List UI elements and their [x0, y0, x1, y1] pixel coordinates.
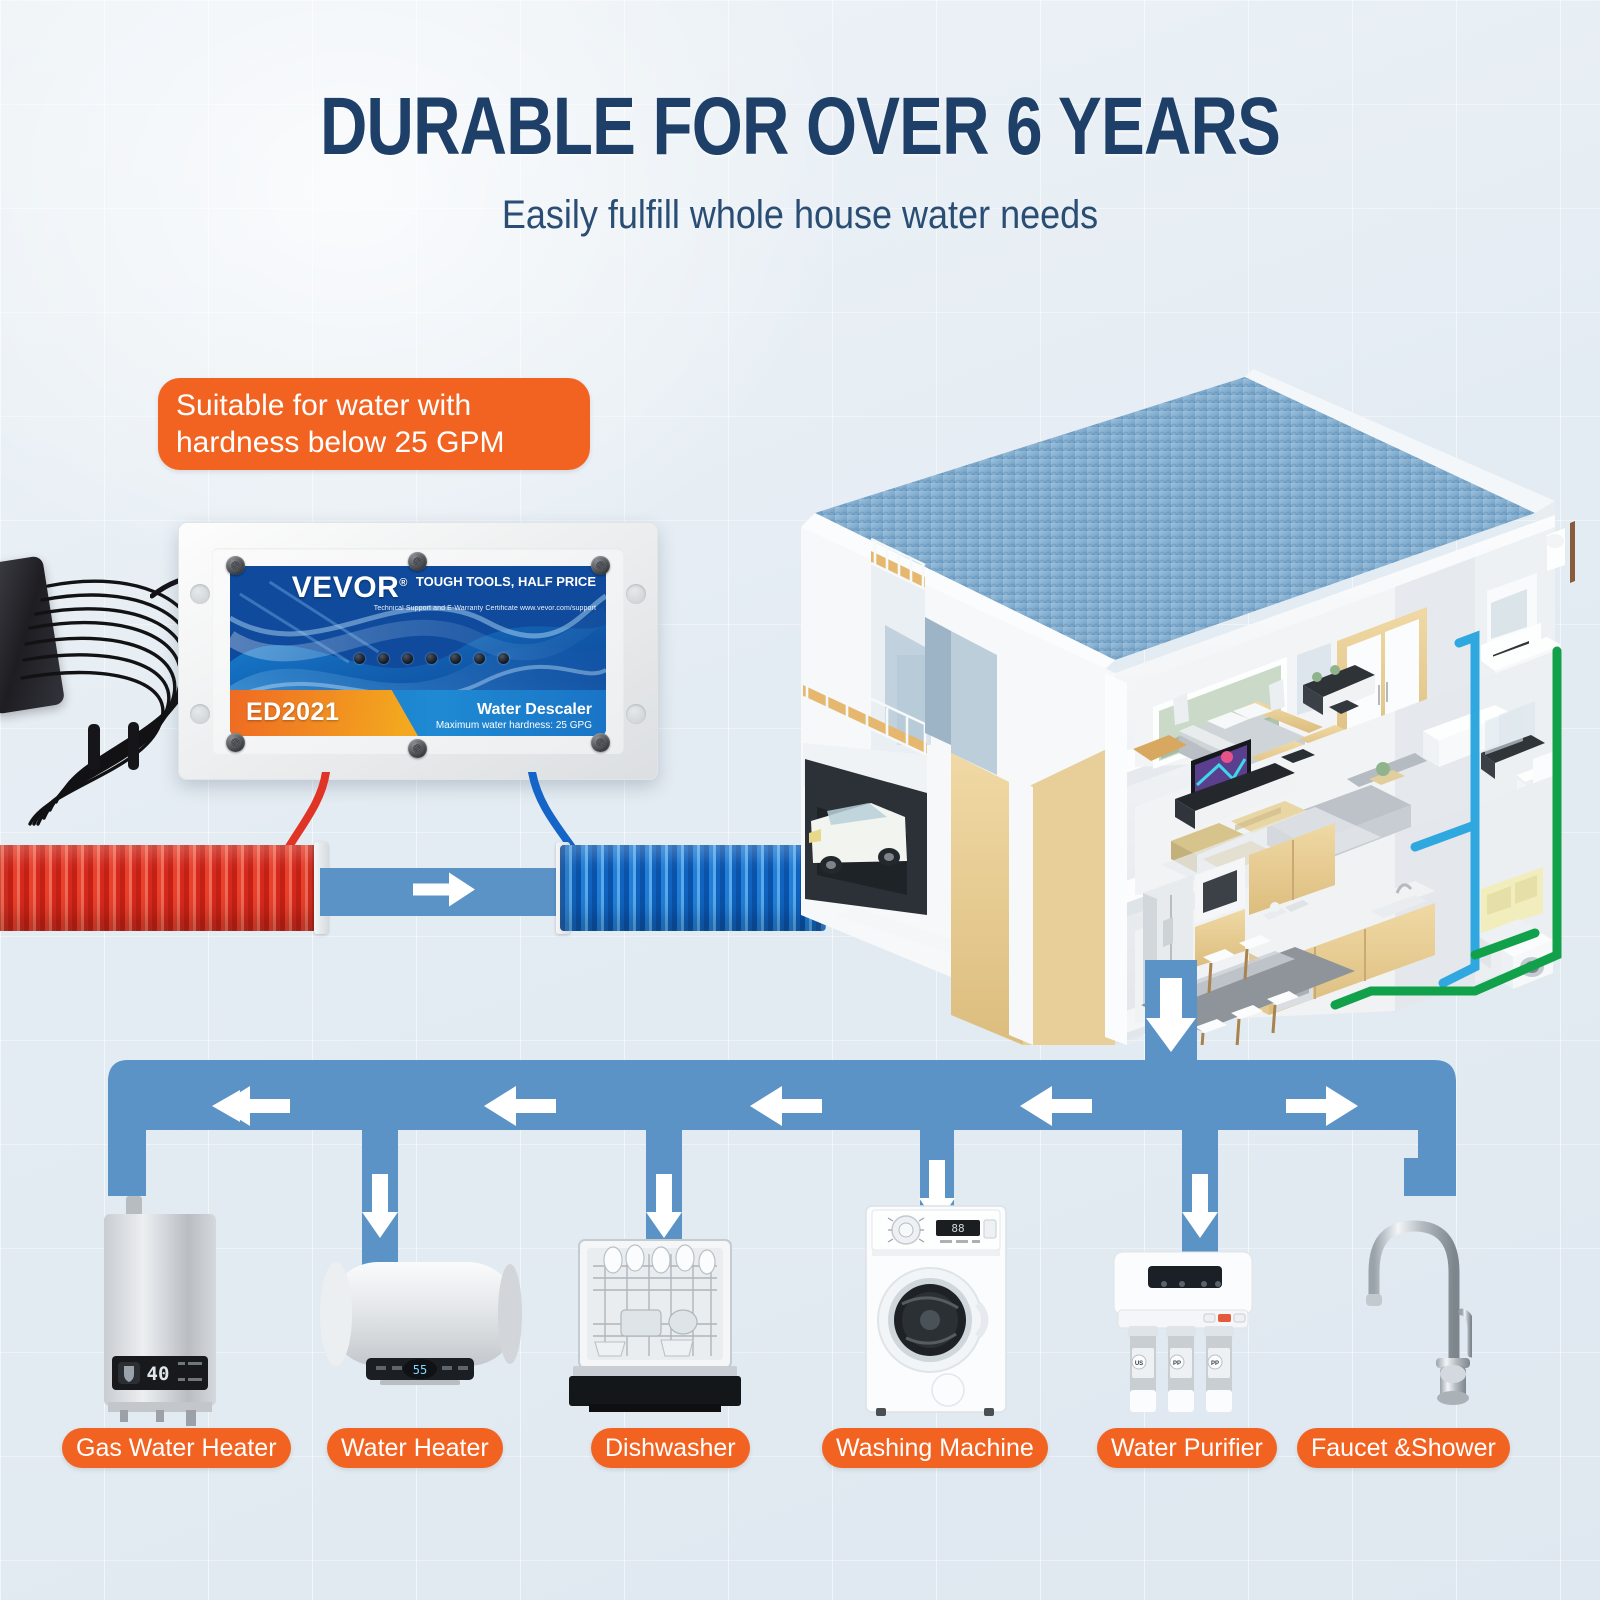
registered-mark: ® — [399, 577, 408, 589]
brand-fine-print: Technical Support and E-Warranty Certifi… — [292, 605, 596, 612]
screw-bottom-left — [226, 733, 245, 752]
led-indicator — [426, 653, 437, 664]
led-indicator — [354, 653, 365, 664]
device-label: VEVOR®TOUGH TOOLS, HALF PRICE Technical … — [230, 566, 606, 736]
label-faucet-shower: Faucet &Shower — [1297, 1428, 1510, 1468]
screw-bottom-right — [591, 733, 610, 752]
screw-top-left — [226, 556, 245, 575]
svg-text:40: 40 — [147, 1363, 170, 1385]
water-descaler-device[interactable]: VEVOR®TOUGH TOOLS, HALF PRICE Technical … — [178, 522, 658, 780]
svg-text:US: US — [1135, 1361, 1143, 1367]
red-inlet-hose — [0, 845, 322, 931]
led-indicator — [378, 653, 389, 664]
page-subtitle: Easily fulfill whole house water needs — [80, 193, 1520, 238]
model-chip: ED2021 — [230, 690, 418, 736]
appliance-water-heater: 55 — [310, 1258, 530, 1398]
brand-name: VEVOR® — [292, 571, 408, 604]
model-number: ED2021 — [246, 698, 339, 727]
led-indicator — [498, 653, 509, 664]
appliance-faucet-shower — [1352, 1208, 1472, 1418]
flow-connector-bar — [320, 868, 568, 916]
model-band: ED2021 Water Descaler Maximum water hard… — [230, 690, 606, 736]
screw-top-center — [408, 552, 427, 571]
label-gas-water-heater: Gas Water Heater — [62, 1428, 291, 1468]
appliance-washing-machine: 88 — [862, 1204, 1010, 1419]
screw-bottom-center — [408, 739, 427, 758]
mounting-hole-top-right — [626, 584, 646, 604]
product-name: Water Descaler — [436, 701, 592, 719]
label-water-heater: Water Heater — [327, 1428, 503, 1468]
appliance-water-purifier: US PP PP — [1108, 1248, 1258, 1418]
brand-tagline: TOUGH TOOLS, HALF PRICE — [416, 575, 596, 590]
led-indicator — [450, 653, 461, 664]
label-water-purifier: Water Purifier — [1097, 1428, 1277, 1468]
label-dishwasher: Dishwasher — [591, 1428, 750, 1468]
product-info: Water Descaler Maximum water hardness: 2… — [436, 701, 592, 732]
house-cutaway-illustration — [775, 355, 1575, 1045]
inlet-flow-arrow-icon — [413, 873, 475, 912]
appliance-gas-water-heater: 40 — [100, 1196, 220, 1426]
product-spec: Maximum water hardness: 25 GPG — [436, 720, 592, 732]
led-indicator — [474, 653, 485, 664]
svg-text:PP: PP — [1173, 1361, 1181, 1367]
hardness-callout-badge: Suitable for water with hardness below 2… — [158, 378, 590, 470]
svg-text:PP: PP — [1211, 1361, 1219, 1367]
svg-text:55: 55 — [413, 1363, 427, 1377]
appliance-dishwasher — [565, 1238, 745, 1418]
led-indicator-row — [354, 653, 509, 664]
page-title: DURABLE FOR OVER 6 YEARS — [160, 88, 1440, 167]
label-washing-machine: Washing Machine — [822, 1428, 1048, 1468]
brand-block: VEVOR®TOUGH TOOLS, HALF PRICE Technical … — [292, 573, 596, 612]
screw-top-right — [591, 556, 610, 575]
svg-text:88: 88 — [951, 1222, 964, 1235]
header: DURABLE FOR OVER 6 YEARS Easily fulfill … — [0, 88, 1600, 238]
mounting-hole-bottom-left — [190, 704, 210, 724]
led-indicator — [402, 653, 413, 664]
mounting-hole-bottom-right — [626, 704, 646, 724]
mounting-hole-top-left — [190, 584, 210, 604]
